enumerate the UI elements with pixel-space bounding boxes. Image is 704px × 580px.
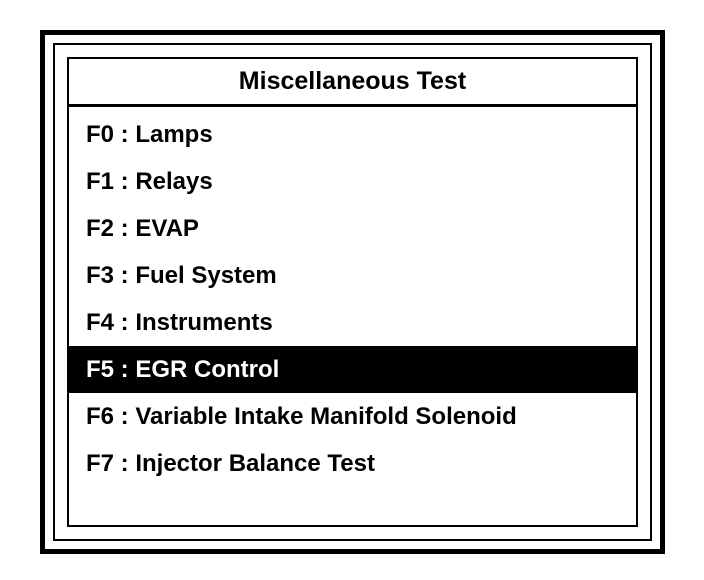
menu-item-f4[interactable]: F4 : Instruments [69,299,636,346]
menu-item-f7[interactable]: F7 : Injector Balance Test [69,440,636,487]
menu-item-f6[interactable]: F6 : Variable Intake Manifold Solenoid [69,393,636,440]
page-title: Miscellaneous Test [239,67,466,96]
menu-item-f2[interactable]: F2 : EVAP [69,205,636,252]
menu-item-label: F3 : Fuel System [86,264,277,288]
menu-panel: Miscellaneous Test F0 : LampsF1 : Relays… [67,57,638,527]
menu-item-label: F5 : EGR Control [86,358,279,382]
menu-item-f3[interactable]: F3 : Fuel System [69,252,636,299]
menu-list: F0 : LampsF1 : RelaysF2 : EVAPF3 : Fuel … [69,107,636,525]
bezel-outer: Miscellaneous Test F0 : LampsF1 : Relays… [40,30,665,554]
menu-item-f0[interactable]: F0 : Lamps [69,111,636,158]
menu-item-label: F6 : Variable Intake Manifold Solenoid [86,405,517,429]
menu-item-label: F4 : Instruments [86,311,273,335]
menu-item-label: F2 : EVAP [86,217,199,241]
menu-item-label: F0 : Lamps [86,123,213,147]
title-bar: Miscellaneous Test [69,59,636,107]
menu-item-f5[interactable]: F5 : EGR Control [69,346,636,393]
diagnostic-screen: Miscellaneous Test F0 : LampsF1 : Relays… [0,0,704,580]
menu-item-f1[interactable]: F1 : Relays [69,158,636,205]
menu-item-label: F1 : Relays [86,170,213,194]
menu-item-label: F7 : Injector Balance Test [86,452,375,476]
bezel-inner: Miscellaneous Test F0 : LampsF1 : Relays… [53,43,652,541]
